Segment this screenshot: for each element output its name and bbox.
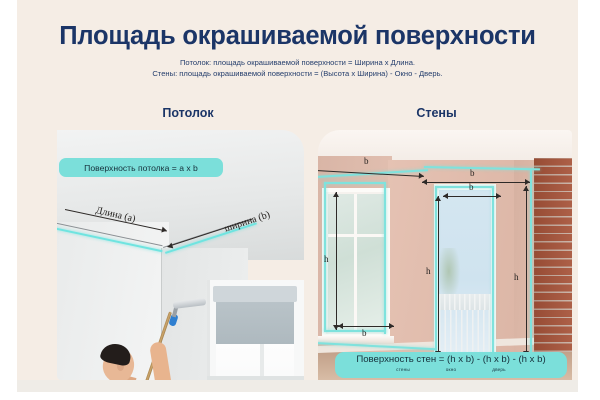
balcony-railing-bars	[439, 310, 491, 354]
dimension-label-b-wall-left: b	[364, 156, 369, 166]
legend-window: окно	[438, 367, 464, 372]
dimension-label-h-wall: h	[514, 272, 519, 282]
dimension-arrow-h-door	[438, 196, 439, 356]
slide-canvas: Площадь окрашиваемой поверхности Потолок…	[17, 0, 578, 392]
walls-photo: b b b b h h h	[318, 130, 572, 380]
dimension-arrow-b-wall-right	[422, 182, 530, 183]
balcony-railing-ornament	[439, 294, 491, 310]
walls-formula-banner: Поверхность стен = (h x b) - (h x b) - (…	[335, 352, 567, 378]
dimension-label-b-wall-right: b	[470, 168, 475, 178]
subtitle-line-1: Потолок: площадь окрашиваемой поверхност…	[17, 58, 578, 67]
ceiling-formula-banner: Поверхность потолка = a x b	[59, 158, 223, 177]
window-glass	[216, 344, 294, 380]
section-heading-ceiling: Потолок	[72, 106, 304, 120]
outline-door-left	[435, 186, 437, 358]
brick-wall-shading	[534, 158, 572, 380]
window-mullion	[260, 344, 264, 380]
dimension-arrow-b-door	[443, 196, 501, 197]
page-title: Площадь окрашиваемой поверхности	[17, 22, 578, 51]
dimension-label-h-door: h	[426, 266, 431, 276]
window-blind	[216, 302, 294, 344]
outline-door-top	[435, 186, 494, 188]
legend-door: дверь	[486, 367, 512, 372]
section-heading-walls: Стены	[318, 106, 555, 120]
dimension-label-b-door: b	[469, 182, 474, 192]
outline-wall-window-bottom	[324, 330, 386, 332]
subtitle-line-2: Стены: площадь окрашиваемой поверхности …	[17, 69, 578, 78]
dimension-arrow-h-window	[336, 192, 337, 330]
dimension-label-h-window: h	[324, 254, 329, 264]
outline-wall-right-outer	[530, 170, 532, 356]
slide-bottom-bar	[17, 380, 578, 392]
window-mullion-vertical	[354, 194, 357, 332]
outline-wall-window-head	[324, 182, 386, 184]
legend-walls: стены	[390, 367, 416, 372]
right-margin	[578, 0, 600, 400]
walls-formula-legend: стены окно дверь	[335, 367, 567, 372]
dimension-arrow-h-wall	[526, 186, 527, 356]
outline-wall-window-right	[384, 184, 386, 334]
walls-formula-text: Поверхность стен = (h x b) - (h x b) - (…	[356, 354, 545, 366]
outline-door-right	[492, 186, 494, 358]
dimension-label-b-window: b	[362, 328, 367, 338]
blind-box	[213, 286, 297, 302]
ceiling-formula-text: Поверхность потолка = a x b	[84, 163, 198, 173]
